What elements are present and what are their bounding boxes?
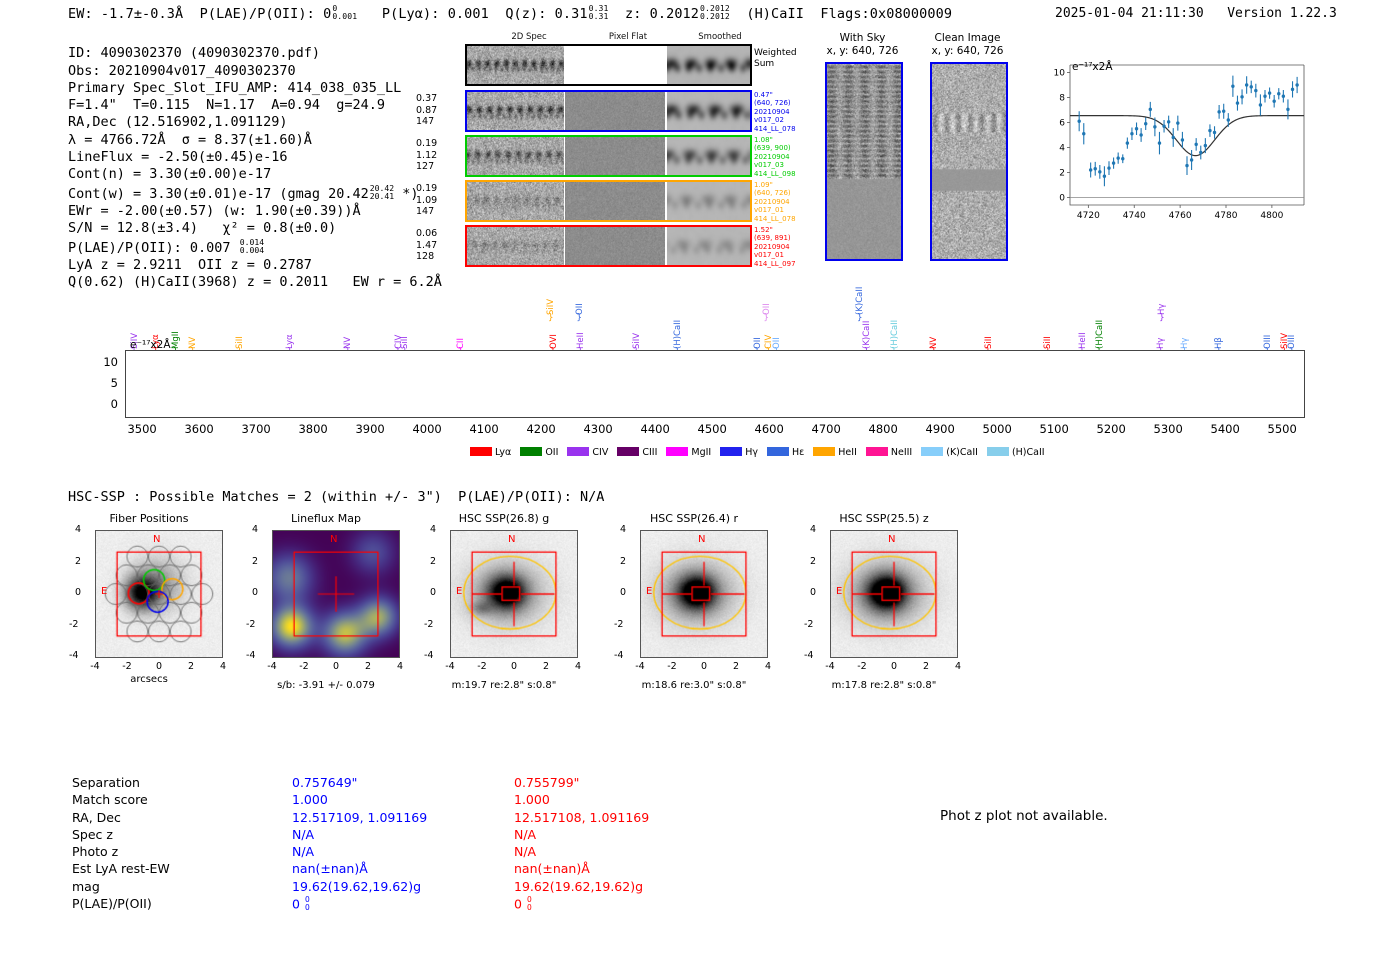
line-label-Lyα-5: Lyα (285, 305, 295, 349)
fiber-row-1-pixelflat (565, 137, 665, 175)
legend-item-CIII: CIII (617, 447, 657, 458)
table-row: P(LAE)/P(OII)0 000 00 (72, 896, 734, 912)
spectrum-ytick-5: 5 (90, 376, 118, 390)
fiber-row-2-pixelflat (565, 182, 665, 220)
legend-label-4: MgII (691, 447, 711, 458)
legend-label-7: HeII (838, 447, 857, 458)
line-label-OII-19: OII (772, 305, 782, 349)
legend-item-OII: OII (520, 447, 558, 458)
info-line-0: ID: 4090302370 (4090302370.pdf) (68, 45, 320, 61)
fiber-row-1-smoothed (667, 137, 750, 175)
imaging-panel-3-title: HSC SSP(26.4) r (600, 512, 788, 525)
imaging-panel-2-east-label: E (456, 586, 462, 597)
fiber-row-3-2dspec (467, 227, 564, 265)
col-header-2dspec: 2D Spec (484, 32, 574, 42)
table-row: Spec zN/AN/A (72, 827, 734, 842)
imaging-panel-0-xtick-4: 4 (215, 661, 231, 672)
legend-label-6: Hε (792, 447, 804, 458)
info-line-6: LineFlux = -2.50(±0.45)e-16 (68, 149, 287, 165)
weighted-sum-row (465, 44, 752, 86)
legend-item-CIV: CIV (567, 447, 608, 458)
fiber-row-1-idtags: 1.08" (639, 900) 20210904 v017_03 414_LL… (754, 136, 796, 178)
line-label-OIII-34: OIII (1287, 305, 1297, 349)
match-blue-6: 19.62(19.62,19.62)g (292, 879, 512, 894)
fiber-row-2 (465, 180, 752, 222)
imaging-panel-2-xtick-4: 4 (570, 661, 586, 672)
match-label-6: mag (72, 879, 290, 894)
imaging-panel-1-xtick-1: -2 (296, 661, 312, 672)
line-label-NV-3: NV (188, 305, 198, 349)
imaging-panel-3-canvas (641, 531, 767, 657)
info-line-7: Cont(n) = 3.30(±0.00)e-17 (68, 166, 271, 182)
imaging-panel-4-east-label: E (836, 586, 842, 597)
imaging-panel-2-ytick-3: -2 (424, 619, 433, 630)
table-row: mag19.62(19.62,19.62)g19.62(19.62,19.62)… (72, 879, 734, 894)
imaging-panel-0-axes (95, 530, 223, 658)
line-label-HCaII-15: (H)CaII (673, 305, 683, 349)
fiber-row-3-smoothed (667, 227, 750, 265)
info-line-3: F=1.4" T=0.115 N=1.17 A=0.94 g=24.9 (68, 97, 385, 113)
legend-label-0: Lyα (495, 447, 511, 458)
line-label-KCaII-21: (K)CaII (862, 305, 872, 349)
fiber-row-0-pixelflat (565, 92, 665, 130)
match-blue-5: nan(±nan)Å (292, 861, 512, 876)
legend-item-KCaII: (K)CaII (921, 447, 978, 458)
imaging-panel-1-caption: s/b: -3.91 +/- 0.079 (232, 680, 420, 691)
spectrum-xtick-5100: 5100 (1037, 422, 1071, 436)
spectrum-plot-frame (125, 350, 1305, 418)
info-line-1: Obs: 20210904v017_4090302370 (68, 63, 296, 79)
imaging-panel-0-title: Fiber Positions (55, 512, 243, 525)
match-red-3: N/A (514, 827, 734, 842)
match-label-7: P(LAE)/P(OII) (72, 896, 290, 912)
info-plae-lo: 0.004 (240, 245, 264, 255)
match-label-4: Photo z (72, 844, 290, 859)
imaging-panel-0-ytick-0: 4 (75, 524, 81, 535)
legend-item-Hγ: Hγ (720, 447, 758, 458)
imaging-panel-4-xtick-0: -4 (822, 661, 838, 672)
line-fit-canvas (1032, 55, 1312, 235)
fiber-row-0-2dspec (467, 92, 564, 130)
legend-swatch-3 (617, 447, 639, 456)
legend-item-NeIII: NeIII (866, 447, 912, 458)
imaging-panel-0-ytick-4: -4 (69, 650, 78, 661)
hsc-section-title: HSC-SSP : Possible Matches = 2 (within +… (68, 489, 604, 505)
imaging-panel-4-ytick-0: 4 (810, 524, 816, 535)
imaging-panel-2-caption: m:19.7 re:2.8" s:0.8" (410, 680, 598, 691)
imaging-panel-0-xtick-3: 2 (183, 661, 199, 672)
fiber-row-2-2dspec (467, 182, 564, 220)
imaging-panel-4-ytick-1: 2 (810, 556, 816, 567)
imaging-panel-2-ytick-4: -4 (424, 650, 433, 661)
imaging-panel-4: HSC SSP(25.5) zNE420-2-4-4-2024m:17.8 re… (790, 512, 978, 712)
col-header-pixelflat: Pixel Flat (583, 32, 673, 42)
line-label-NV-23: NV (929, 305, 939, 349)
line-label-Hγ-29: Hγ (1156, 305, 1166, 349)
fiber-row-1-metrics: 0.19 1.12 127 (416, 138, 437, 173)
legend-swatch-9 (921, 447, 943, 456)
line-label-OVI-11: OVI (549, 305, 559, 349)
imaging-panel-1-axes (272, 530, 400, 658)
fiber-row-2-smoothed (667, 182, 750, 220)
spectrum-xtick-4900: 4900 (923, 422, 957, 436)
table-row: Separation0.757649"0.755799" (72, 775, 734, 790)
match-label-2: RA, Dec (72, 810, 290, 825)
line-label-MgII-2: MgII (171, 305, 181, 349)
legend-item-Hε: Hε (767, 447, 804, 458)
match-red-6: 19.62(19.62,19.62)g (514, 879, 734, 894)
imaging-panel-2-ytick-0: 4 (430, 524, 436, 535)
spectrum-xtick-3500: 3500 (125, 422, 159, 436)
imaging-panel-4-caption: m:17.8 re:2.8" s:0.8" (790, 680, 978, 691)
weighted-sum-label: Weighted Sum (754, 48, 797, 70)
imaging-panel-1-ytick-2: 0 (252, 587, 258, 598)
imaging-panel-2-ytick-2: 0 (430, 587, 436, 598)
imaging-panel-4-xtick-1: -2 (854, 661, 870, 672)
with-sky-image (827, 64, 901, 259)
match-blue-2: 12.517109, 1.091169 (292, 810, 512, 825)
line-label-SiIV-14: SiIV (632, 305, 642, 349)
legend-label-10: (H)CaII (1012, 447, 1045, 458)
header-plae-lo: 0.001 (332, 11, 357, 21)
imaging-panel-3-xtick-4: 4 (760, 661, 776, 672)
line-fit-ylabel: e⁻¹⁷x2Å (1072, 61, 1113, 73)
header-plae-label: P(LAE)/P(OII): 0 (200, 6, 332, 22)
legend-label-2: CIV (592, 447, 608, 458)
legend-label-8: NeIII (891, 447, 912, 458)
imaging-panel-2-canvas (451, 531, 577, 657)
spectrum-xtick-4800: 4800 (866, 422, 900, 436)
line-label-SiII-4: SiII (235, 305, 245, 349)
imaging-panel-1-north-label: N (330, 534, 337, 545)
line-label-SiII-25: SiII (1043, 305, 1053, 349)
line-label-HCaII-27: (H)CaII (1095, 305, 1105, 349)
imaging-panel-2-ytick-1: 2 (430, 556, 436, 567)
imaging-panel-0-xtick-1: -2 (119, 661, 135, 672)
imaging-panel-0-ytick-2: 0 (75, 587, 81, 598)
legend-swatch-1 (520, 447, 542, 456)
header-qz-label: Q(z): 0.31 (505, 6, 587, 22)
spectrum-ytick-10: 10 (90, 355, 118, 369)
imaging-panel-3-east-label: E (646, 586, 652, 597)
imaging-panel-3-axes (640, 530, 768, 658)
line-label-SiII-8: SiII (400, 305, 410, 349)
full-spectrum-chart: SiIV}Lyα}MgII}NV}SiII}Lyα}NV}CIV}SiII}CI… (80, 265, 1305, 460)
info-ewr: EWr = -2.00(±0.57) (w: 1.90(±0.39))Å (68, 203, 361, 219)
line-label-SiII-24: SiII (984, 305, 994, 349)
match-red-7: 0 00 (514, 896, 734, 912)
fiber-row-0-idtags: 0.47" (640, 726) 20210904 v017_02 414_LL… (754, 91, 796, 133)
fiber-row-0 (465, 90, 752, 132)
imaging-panel-2-xtick-1: -2 (474, 661, 490, 672)
clean-image-coords: x, y: 640, 726 (920, 45, 1015, 58)
fiber-row-0-metrics: 0.37 0.87 147 (416, 93, 437, 128)
info-snr: S/N = 12.8(±3.4) χ² = 0.8(±0.0) (68, 220, 336, 236)
weighted-sum-pixelflat-blank (564, 46, 667, 84)
legend-item-HeII: HeII (813, 447, 857, 458)
imaging-panel-3-caption: m:18.6 re:3.0" s:0.8" (600, 680, 788, 691)
table-row: RA, Dec12.517109, 1.09116912.517108, 1.0… (72, 810, 734, 825)
legend-item-MgII: MgII (666, 447, 711, 458)
imaging-panel-4-ytick-3: -2 (804, 619, 813, 630)
header-qz-lo: 0.31 (589, 11, 609, 21)
imaging-panel-3-ytick-0: 4 (620, 524, 626, 535)
imaging-panel-4-title: HSC SSP(25.5) z (790, 512, 978, 525)
legend-label-1: OII (545, 447, 558, 458)
spectrum-xtick-4300: 4300 (581, 422, 615, 436)
legend-item-Lyα: Lyα (470, 447, 511, 458)
source-info-block: ID: 4090302370 (4090302370.pdf) Obs: 202… (68, 28, 442, 292)
fiber-row-0-smoothed (667, 92, 750, 130)
spectrum-xtick-5300: 5300 (1151, 422, 1185, 436)
imaging-panel-3-xtick-3: 2 (728, 661, 744, 672)
header-ew: EW: -1.7±-0.3Å (68, 6, 183, 22)
legend-swatch-8 (866, 447, 888, 456)
line-label-OII-17: OII (753, 305, 763, 349)
imaging-panel-2: HSC SSP(26.8) gNE420-2-4-4-2024m:19.7 re… (410, 512, 598, 712)
fiber-row-2-idtags: 1.09" (640, 726) 20210904 v017_01 414_LL… (754, 181, 796, 223)
imaging-panel-1-canvas (273, 531, 399, 657)
match-blue-4: N/A (292, 844, 512, 859)
clean-image-title: Clean Image (920, 32, 1015, 45)
legend-swatch-7 (813, 447, 835, 456)
imaging-panel-0-xtick-2: 0 (151, 661, 167, 672)
imaging-panel-3-xtick-2: 0 (696, 661, 712, 672)
imaging-panel-0-xlabel: arcsecs (55, 674, 243, 685)
line-label-CII-9: CII (456, 305, 466, 349)
line-label-NV-6: NV (343, 305, 353, 349)
header-z-lo: 0.2012 (700, 11, 730, 21)
header-line-id: (H)CaII (746, 6, 804, 22)
line-label-HeII-13: HeII (576, 305, 586, 349)
imaging-panel-3: HSC SSP(26.4) rNE420-2-4-4-2024m:18.6 re… (600, 512, 788, 712)
line-label-HeII-26: HeII (1078, 305, 1088, 349)
header-summary-line: EW: -1.7±-0.3Å P(LAE)/P(OII): 000.001 P(… (68, 4, 952, 22)
imaging-panel-1-ytick-1: 2 (252, 556, 258, 567)
with-sky-title: With Sky (815, 32, 910, 45)
imaging-panel-0: Fiber PositionsNE420-2-4-4-2024arcsecs (55, 512, 243, 712)
legend-swatch-4 (666, 447, 688, 456)
match-red-0: 0.755799" (514, 775, 734, 790)
imaging-panel-4-north-label: N (888, 534, 895, 545)
spectrum-xtick-5500: 5500 (1265, 422, 1299, 436)
match-label-1: Match score (72, 792, 290, 807)
imaging-panel-3-xtick-1: -2 (664, 661, 680, 672)
imaging-panel-4-xtick-4: 4 (950, 661, 966, 672)
imaging-panel-0-east-label: E (101, 586, 107, 597)
spectrum-ytick-0: 0 (90, 397, 118, 411)
fiber-row-1 (465, 135, 752, 177)
match-label-0: Separation (72, 775, 290, 790)
imaging-panel-3-ytick-2: 0 (620, 587, 626, 598)
imaging-panel-2-xtick-3: 2 (538, 661, 554, 672)
spectrum-xtick-5200: 5200 (1094, 422, 1128, 436)
fiber-row-3-pixelflat (565, 227, 665, 265)
spectrum-legend: LyαOIICIVCIIIMgIIHγHεHeIINeIII(K)CaII(H)… (470, 447, 1054, 458)
legend-swatch-5 (720, 447, 742, 456)
weighted-sum-2dspec-image (467, 46, 564, 84)
spectrum-ylabel: e⁻¹⁷x2Å (130, 339, 171, 351)
imaging-panel-3-xtick-0: -4 (632, 661, 648, 672)
info-cont-w: Cont(w) = 3.30(±0.01)e-17 (gmag 20.42 (68, 186, 369, 202)
with-sky-coords: x, y: 640, 726 (815, 45, 910, 58)
imaging-panel-3-north-label: N (698, 534, 705, 545)
clean-image-image (932, 64, 1006, 259)
match-table: Separation0.757649"0.755799"Match score1… (70, 773, 736, 914)
imaging-panel-0-ytick-3: -2 (69, 619, 78, 630)
legend-label-5: Hγ (745, 447, 758, 458)
spectrum-xtick-4200: 4200 (524, 422, 558, 436)
match-label-5: Est LyA rest-EW (72, 861, 290, 876)
imaging-panel-1-xtick-3: 2 (360, 661, 376, 672)
header-plya: P(Lyα): 0.001 (382, 6, 489, 22)
spectrum-xtick-3600: 3600 (182, 422, 216, 436)
imaging-panel-1-ytick-4: -4 (246, 650, 255, 661)
imaging-panel-0-ytick-1: 2 (75, 556, 81, 567)
weighted-sum-smoothed-image (667, 46, 750, 84)
spectrum-xtick-5400: 5400 (1208, 422, 1242, 436)
info-line-2: Primary Spec_Slot_IFU_AMP: 414_038_035_L… (68, 80, 401, 96)
imaging-panel-1-xtick-2: 0 (328, 661, 344, 672)
imaging-panel-3-ytick-1: 2 (620, 556, 626, 567)
imaging-panel-2-title: HSC SSP(26.8) g (410, 512, 598, 525)
match-label-3: Spec z (72, 827, 290, 842)
fiber-row-3-metrics: 0.06 1.47 128 (416, 228, 437, 263)
info-line-5: λ = 4766.72Å σ = 8.37(±1.60)Å (68, 132, 312, 148)
line-label-OIII-32: OIII (1263, 305, 1273, 349)
fiber-row-3-idtags: 1.52" (639, 891) 20210904 v017_01 414_LL… (754, 226, 796, 268)
header-timestamp: 2025-01-04 21:11:30 (1055, 6, 1204, 21)
header-version: Version 1.22.3 (1227, 6, 1337, 21)
imaging-panel-3-ytick-3: -2 (614, 619, 623, 630)
imaging-panel-0-north-label: N (153, 534, 160, 545)
imaging-panel-0-canvas (96, 531, 222, 657)
table-row: Match score1.0001.000 (72, 792, 734, 807)
imaging-panel-0-xtick-0: -4 (87, 661, 103, 672)
fiber-row-1-2dspec (467, 137, 564, 175)
header-timestamp-version: 2025-01-04 21:11:30 Version 1.22.3 (1055, 6, 1337, 21)
match-red-1: 1.000 (514, 792, 734, 807)
spectrum-xtick-3700: 3700 (239, 422, 273, 436)
imaging-panel-1-title: Lineflux Map (232, 512, 420, 525)
imaging-panel-4-ytick-4: -4 (804, 650, 813, 661)
spectrum-xtick-4500: 4500 (695, 422, 729, 436)
legend-swatch-10 (987, 447, 1009, 456)
imaging-panel-4-ytick-2: 0 (810, 587, 816, 598)
table-row: Photo zN/AN/A (72, 844, 734, 859)
fiber-row-2-metrics: 0.19 1.09 147 (416, 183, 437, 218)
imaging-panel-4-axes (830, 530, 958, 658)
imaging-panel-2-xtick-0: -4 (442, 661, 458, 672)
fiber-row-3 (465, 225, 752, 267)
match-blue-7: 0 00 (292, 896, 512, 912)
legend-swatch-6 (767, 447, 789, 456)
2d-spectra-panel-group: 2D Spec Pixel Flat Smoothed Weighted Sum… (440, 32, 810, 257)
info-cont-w-lo: 20.41 (370, 191, 394, 201)
imaging-panel-2-xtick-2: 0 (506, 661, 522, 672)
col-header-smoothed: Smoothed (675, 32, 765, 42)
spectrum-xtick-4000: 4000 (410, 422, 444, 436)
line-label-Hβ-31: Hβ (1214, 305, 1224, 349)
match-blue-1: 1.000 (292, 792, 512, 807)
legend-swatch-2 (567, 447, 589, 456)
legend-swatch-0 (470, 447, 492, 456)
imaging-panel-2-axes (450, 530, 578, 658)
spectrum-xtick-5000: 5000 (980, 422, 1014, 436)
line-label-Hγ-30: Hγ (1180, 305, 1190, 349)
info-line-4: RA,Dec (12.516902,1.091129) (68, 114, 287, 130)
spectrum-xtick-3900: 3900 (353, 422, 387, 436)
imaging-panel-1: Lineflux MapN420-2-4-4-2024s/b: -3.91 +/… (232, 512, 420, 712)
spectrum-xtick-3800: 3800 (296, 422, 330, 436)
imaging-panel-4-xtick-3: 2 (918, 661, 934, 672)
line-fit-chart: e⁻¹⁷x2Å (1032, 55, 1312, 235)
imaging-panel-1-xtick-0: -4 (264, 661, 280, 672)
imaging-panel-3-ytick-4: -4 (614, 650, 623, 661)
imaging-panel-1-ytick-0: 4 (252, 524, 258, 535)
imaging-panel-1-ytick-3: -2 (246, 619, 255, 630)
match-red-4: N/A (514, 844, 734, 859)
spectrum-xtick-4600: 4600 (752, 422, 786, 436)
table-row: Est LyA rest-EWnan(±nan)Ånan(±nan)Å (72, 861, 734, 876)
match-blue-3: N/A (292, 827, 512, 842)
imaging-panel-2-north-label: N (508, 534, 515, 545)
legend-item-HCaII: (H)CaII (987, 447, 1045, 458)
spectrum-xtick-4100: 4100 (467, 422, 501, 436)
legend-label-9: (K)CaII (946, 447, 978, 458)
info-plae: P(LAE)/P(OII): 0.007 (68, 240, 231, 256)
line-label-HCaII-22: (H)CaII (890, 305, 900, 349)
spectrum-xtick-4700: 4700 (809, 422, 843, 436)
imaging-panel-4-canvas (831, 531, 957, 657)
header-flags: Flags:0x08000009 (820, 6, 952, 22)
match-blue-0: 0.757649" (292, 775, 512, 790)
match-red-5: nan(±nan)Å (514, 861, 734, 876)
legend-label-3: CIII (642, 447, 657, 458)
imaging-panel-4-xtick-2: 0 (886, 661, 902, 672)
photz-note: Phot z plot not available. (940, 808, 1108, 824)
header-z-label: z: 0.2012 (625, 6, 699, 22)
match-red-2: 12.517108, 1.091169 (514, 810, 734, 825)
imaging-panel-1-xtick-4: 4 (392, 661, 408, 672)
spectrum-xtick-4400: 4400 (638, 422, 672, 436)
